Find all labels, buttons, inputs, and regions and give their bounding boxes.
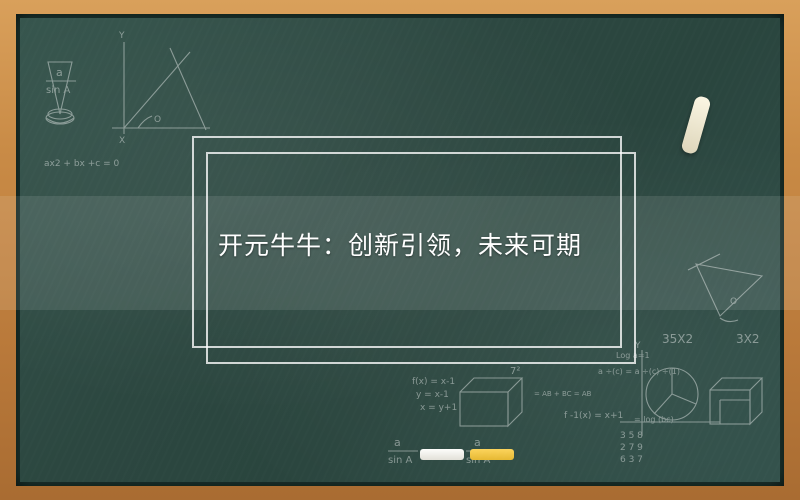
- svg-text:35X2: 35X2: [662, 332, 693, 346]
- svg-text:= log (bc): = log (bc): [634, 415, 674, 424]
- svg-text:x = y+1: x = y+1: [420, 403, 457, 413]
- svg-text:f(x) = x-1: f(x) = x-1: [412, 377, 455, 387]
- svg-text:7²: 7²: [510, 366, 520, 377]
- svg-text:a ÷(c) = a ÷(c) ÷(1): a ÷(c) = a ÷(c) ÷(1): [598, 367, 680, 376]
- doodle-cube-middle: 7²: [460, 366, 522, 426]
- doodle-formula-35x2: 35X2 3X2: [662, 332, 760, 346]
- svg-text:ax2 + bx +c = 0: ax2 + bx +c = 0: [44, 159, 119, 169]
- svg-text:f -1(x) = x+1: f -1(x) = x+1: [564, 411, 623, 421]
- yellow-chalk-icon: [470, 449, 514, 460]
- svg-text:6 3 7: 6 3 7: [620, 455, 643, 465]
- svg-text:a: a: [474, 436, 481, 449]
- svg-text:sin A: sin A: [46, 85, 71, 96]
- svg-text:3X2: 3X2: [736, 332, 760, 346]
- doodle-cube-right: [710, 378, 762, 424]
- svg-text:Y: Y: [118, 31, 125, 41]
- banner-title: 开元牛牛：创新引领，未来可期: [0, 226, 800, 262]
- svg-text:a: a: [56, 66, 63, 79]
- svg-text:2 7 9: 2 7 9: [620, 443, 643, 453]
- svg-text:= AB + BC = AB: = AB + BC = AB: [534, 390, 592, 398]
- svg-text:sin A: sin A: [388, 455, 413, 466]
- svg-text:y = x-1: y = x-1: [416, 390, 449, 400]
- chalkboard-banner: a sin A Y X O ax2 + bx +c = 0: [0, 0, 800, 500]
- svg-text:3 5 8: 3 5 8: [620, 431, 643, 441]
- doodle-cone: a sin A: [46, 62, 76, 124]
- white-chalk-icon: [420, 449, 464, 460]
- svg-text:X: X: [119, 136, 125, 146]
- svg-text:a: a: [394, 436, 401, 449]
- chalk-piece-icon: [680, 95, 711, 155]
- doodle-axes-left: Y X O ax2 + bx +c = 0: [44, 31, 210, 169]
- svg-text:O: O: [154, 115, 161, 125]
